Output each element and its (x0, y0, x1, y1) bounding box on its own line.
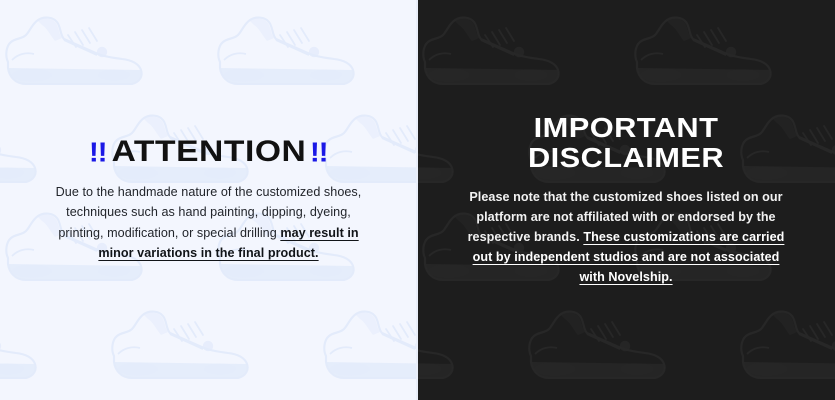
disclaimer-body-text: Please note that the customized shoes li… (467, 187, 785, 288)
attention-content: !! ATTENTION !! Due to the handmade natu… (0, 137, 417, 264)
disclaimer-heading: IMPORTANT DISCLAIMER (431, 113, 821, 173)
disclaimer-banner: !! ATTENTION !! Due to the handmade natu… (0, 0, 835, 400)
attention-heading: !! ATTENTION !! (14, 137, 403, 167)
panel-divider (416, 0, 418, 400)
attention-title: ATTENTION (111, 137, 306, 167)
disclaimer-content: IMPORTANT DISCLAIMER Please note that th… (417, 113, 835, 288)
disclaimer-panel: IMPORTANT DISCLAIMER Please note that th… (417, 0, 835, 400)
exclamation-right-icon: !! (310, 138, 328, 165)
exclamation-left-icon: !! (89, 138, 107, 165)
disclaimer-title-line-1: IMPORTANT (417, 113, 835, 143)
attention-panel: !! ATTENTION !! Due to the handmade natu… (0, 0, 417, 400)
disclaimer-title-line-2: DISCLAIMER (417, 143, 835, 173)
attention-body-text: Due to the handmade nature of the custom… (53, 182, 365, 264)
